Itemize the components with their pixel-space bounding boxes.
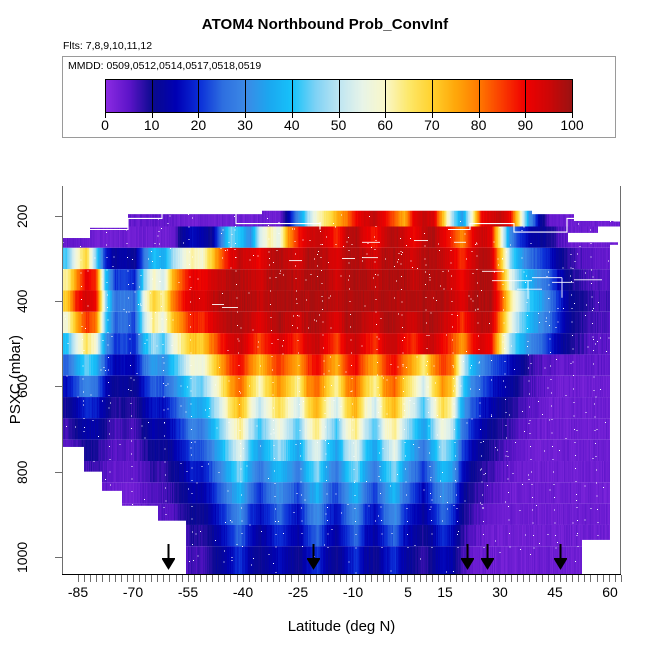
x-axis-minor-tick (499, 575, 500, 582)
colorbar-tick-label: 0 (101, 117, 109, 133)
x-axis-minor-tick (352, 575, 353, 582)
x-axis-minor-tick (487, 575, 488, 582)
x-axis-minor-tick (505, 575, 506, 582)
x-axis-minor-tick (310, 575, 311, 582)
x-axis-minor-tick (566, 575, 567, 582)
x-axis-minor-tick (371, 575, 372, 582)
x-axis-minor-tick (438, 575, 439, 582)
x-axis-minor-tick (218, 575, 219, 582)
page-title: ATOM4 Northbound Prob_ConvInf (0, 16, 650, 33)
x-axis-minor-tick (597, 575, 598, 582)
x-axis-minor-tick (584, 575, 585, 582)
x-axis-tick-label: 60 (602, 584, 618, 600)
x-axis-tick-label: 30 (492, 584, 508, 600)
x-axis-minor-tick (407, 575, 408, 582)
colorbar (105, 79, 573, 113)
x-axis-minor-tick (200, 575, 201, 582)
chart-screenshot: ATOM4 Northbound Prob_ConvInf Flts: 7,8,… (0, 0, 650, 650)
colorbar-tick-label: 90 (518, 117, 534, 133)
y-axis-tick (55, 216, 62, 217)
colorbar-tick-label: 30 (237, 117, 253, 133)
colorbar-tick-label: 40 (284, 117, 300, 133)
x-axis-tick-label: -55 (178, 584, 198, 600)
x-axis-minor-tick (462, 575, 463, 582)
x-axis-minor-tick (468, 575, 469, 582)
colorbar-tick-label: 80 (471, 117, 487, 133)
x-axis-minor-tick (359, 575, 360, 582)
x-axis-minor-tick (176, 575, 177, 582)
x-axis-minor-tick (542, 575, 543, 582)
x-axis-minor-tick (291, 575, 292, 582)
x-axis-minor-tick (285, 575, 286, 582)
x-axis-minor-tick (96, 575, 97, 582)
x-axis-minor-tick (414, 575, 415, 582)
x-axis-minor-tick (109, 575, 110, 582)
x-axis-minor-tick (365, 575, 366, 582)
x-axis-tick-label: 15 (437, 584, 453, 600)
x-axis-minor-tick (267, 575, 268, 582)
x-axis-minor-tick (115, 575, 116, 582)
x-axis-minor-tick (188, 575, 189, 582)
x-axis-tick-label: -85 (68, 584, 88, 600)
x-axis-minor-tick (151, 575, 152, 582)
x-axis-minor-tick (346, 575, 347, 582)
x-axis-minor-tick (481, 575, 482, 582)
x-axis-minor-tick (389, 575, 390, 582)
x-axis-minor-tick (261, 575, 262, 582)
flights-annotation: Flts: 7,8,9,10,11,12 (63, 40, 152, 52)
down-arrow-icon (307, 544, 320, 574)
x-axis-minor-tick (78, 575, 79, 582)
x-axis-tick-label: -70 (123, 584, 143, 600)
colorbar-tick-label: 100 (560, 117, 583, 133)
x-axis-minor-tick (609, 575, 610, 582)
x-axis-minor-tick (224, 575, 225, 582)
x-axis-minor-tick (279, 575, 280, 582)
x-axis-tick-label: -40 (233, 584, 253, 600)
x-axis-minor-tick (517, 575, 518, 582)
x-axis-minor-tick (523, 575, 524, 582)
x-axis-minor-tick (127, 575, 128, 582)
x-axis-minor-tick (572, 575, 573, 582)
colorbar-gradient (105, 79, 573, 113)
x-axis-minor-tick (163, 575, 164, 582)
x-axis-minor-tick (548, 575, 549, 582)
x-axis-minor-tick (554, 575, 555, 582)
x-axis-minor-tick (432, 575, 433, 582)
plot-right-border (620, 186, 621, 574)
x-axis-minor-tick (121, 575, 122, 582)
x-axis-minor-tick (182, 575, 183, 582)
x-axis-minor-tick (102, 575, 103, 582)
colorbar-tick-label: 50 (331, 117, 347, 133)
x-axis-minor-tick (90, 575, 91, 582)
x-axis-tick-label: -25 (288, 584, 308, 600)
y-axis-title-text: PSXC (mbar) (7, 335, 24, 424)
colorbar-tick-label: 10 (144, 117, 160, 133)
x-axis-minor-tick (395, 575, 396, 582)
colorbar-tick-label: 70 (424, 117, 440, 133)
x-axis-minor-tick (304, 575, 305, 582)
x-axis-minor-tick (206, 575, 207, 582)
y-axis-tick (55, 557, 62, 558)
x-axis-minor-tick (383, 575, 384, 582)
x-axis-minor-tick (237, 575, 238, 582)
x-axis-minor-tick (511, 575, 512, 582)
x-axis-minor-tick (450, 575, 451, 582)
down-arrow-icon (461, 544, 474, 574)
x-axis-minor-tick (621, 575, 622, 582)
x-axis-minor-tick (426, 575, 427, 582)
x-axis-minor-tick (560, 575, 561, 582)
x-axis-minor-tick (139, 575, 140, 582)
x-axis-minor-tick (243, 575, 244, 582)
mmdd-annotation: MMDD: 0509,0512,0514,0517,0518,0519 (68, 60, 261, 72)
x-axis-minor-tick (615, 575, 616, 582)
y-axis-line (62, 186, 63, 574)
y-axis-title: PSXC (mbar) (4, 186, 26, 574)
x-axis-minor-tick (377, 575, 378, 582)
x-axis-minor-tick (298, 575, 299, 582)
x-axis-minor-tick (578, 575, 579, 582)
x-axis-minor-tick (273, 575, 274, 582)
x-axis-minor-tick (340, 575, 341, 582)
x-axis-minor-tick (169, 575, 170, 582)
x-axis-minor-tick (401, 575, 402, 582)
x-axis-minor-tick (603, 575, 604, 582)
x-axis-minor-tick (444, 575, 445, 582)
x-axis-minor-tick (230, 575, 231, 582)
down-arrow-icon (162, 544, 175, 574)
x-axis-minor-tick (84, 575, 85, 582)
x-axis-minor-tick (212, 575, 213, 582)
y-axis-tick (55, 386, 62, 387)
x-axis-minor-tick (316, 575, 317, 582)
x-axis-minor-tick (420, 575, 421, 582)
x-axis-minor-tick (334, 575, 335, 582)
x-axis-minor-tick (194, 575, 195, 582)
x-axis-minor-tick (529, 575, 530, 582)
x-axis-tick-label: 5 (404, 584, 412, 600)
x-axis-minor-tick (322, 575, 323, 582)
x-axis-minor-tick (133, 575, 134, 582)
colorbar-tick-labels: 0102030405060708090100 (105, 117, 573, 135)
x-axis-minor-tick (590, 575, 591, 582)
x-axis-minor-tick (493, 575, 494, 582)
down-arrow-icon (554, 544, 567, 574)
colorbar-tick-label: 20 (191, 117, 207, 133)
x-axis-minor-tick (328, 575, 329, 582)
colorbar-tick-label: 60 (377, 117, 393, 133)
x-axis-minor-tick (249, 575, 250, 582)
plot-area: 2004006008001000 -85-70-55-40-25-1051530… (62, 186, 621, 574)
x-axis-minor-tick (456, 575, 457, 582)
x-axis-tick-label: -10 (343, 584, 363, 600)
x-axis-minor-tick (536, 575, 537, 582)
x-axis-minor-tick (475, 575, 476, 582)
x-axis-tick-label: 45 (547, 584, 563, 600)
down-arrow-icon (481, 544, 494, 574)
x-axis-minor-tick (157, 575, 158, 582)
x-axis-minor-tick (145, 575, 146, 582)
heatmap-canvas (62, 186, 621, 574)
y-axis-tick (55, 472, 62, 473)
y-axis-tick (55, 301, 62, 302)
colorbar-panel: MMDD: 0509,0512,0514,0517,0518,0519 0102… (62, 56, 616, 138)
x-axis-title: Latitude (deg N) (62, 618, 621, 635)
x-axis-minor-tick (255, 575, 256, 582)
